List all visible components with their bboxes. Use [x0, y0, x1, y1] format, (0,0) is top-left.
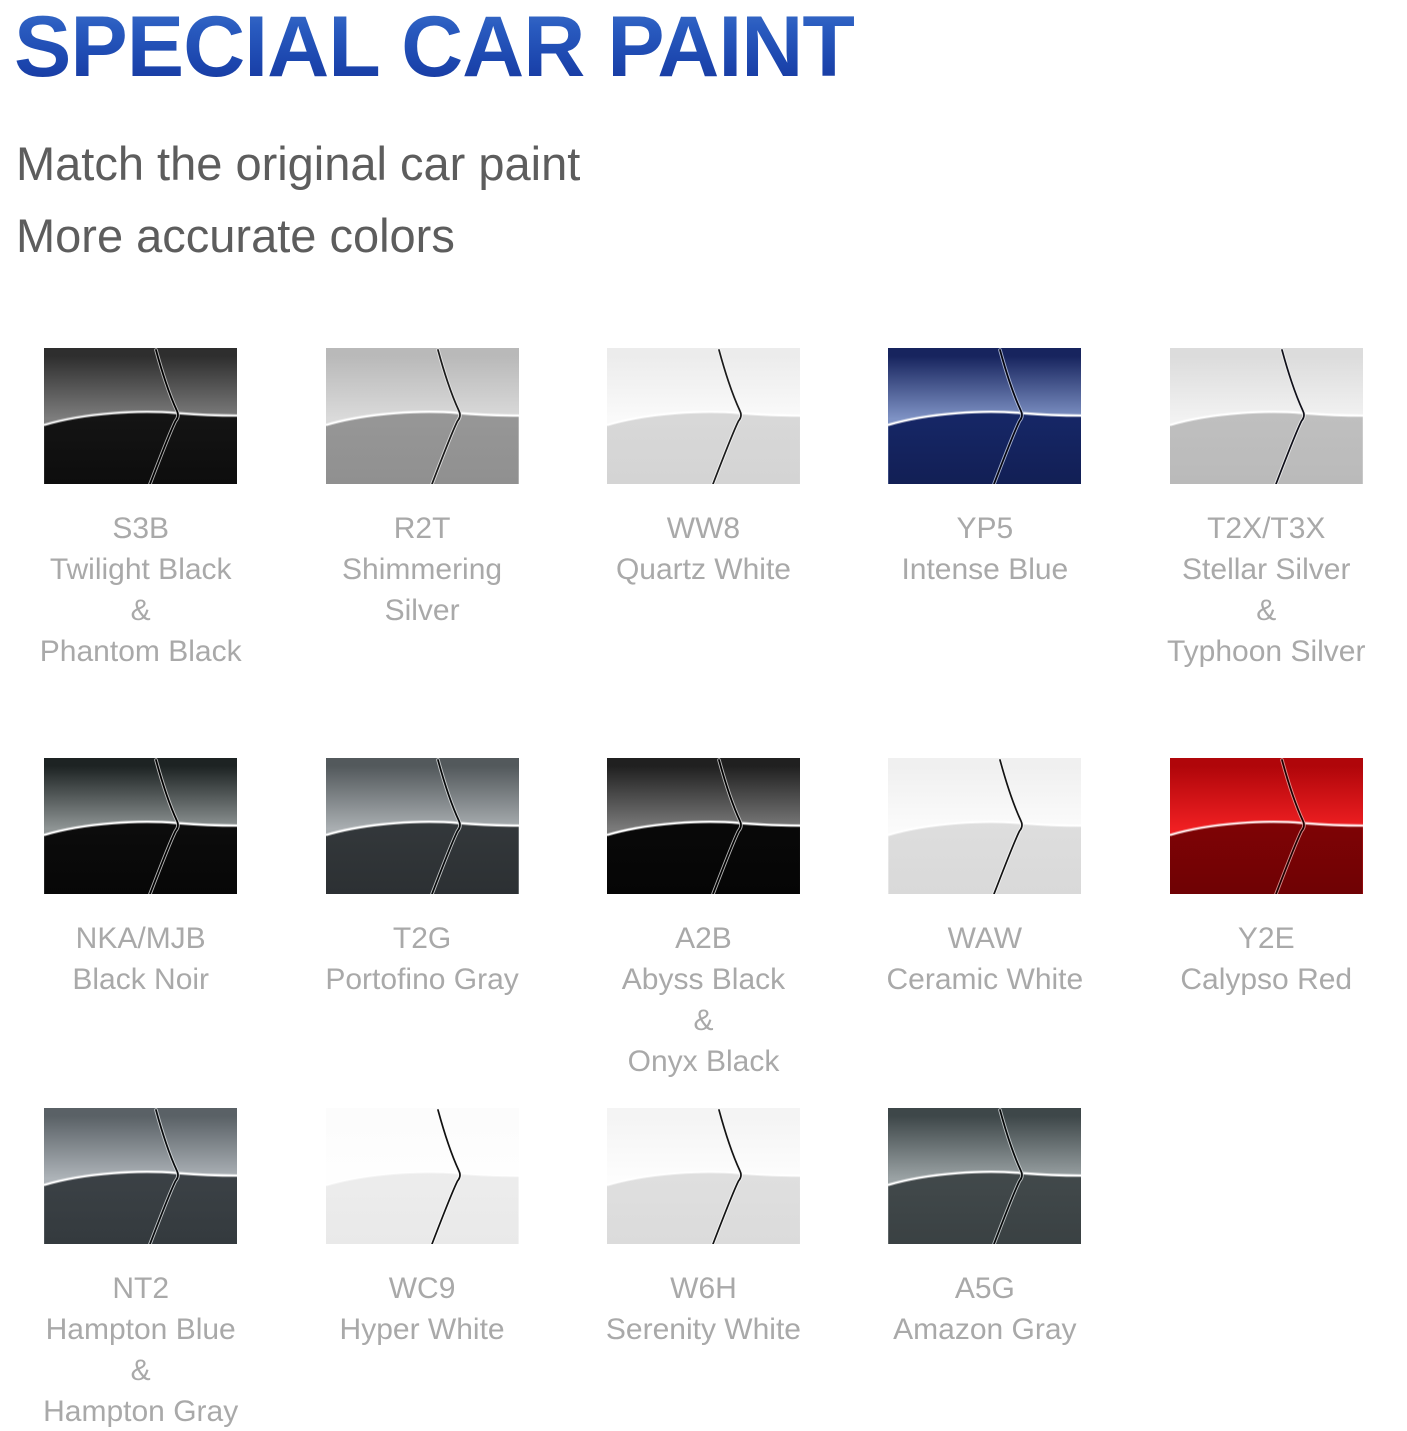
paint-code: WC9	[282, 1268, 563, 1309]
swatch-row: NKA/MJBBlack NoirT2GPortofino GrayA2BAby…	[0, 740, 1407, 1090]
page-title: SPECIAL CAR PAINT	[0, 0, 1407, 92]
paint-caption: R2TShimmering Silver	[282, 508, 563, 631]
paint-sample-image	[44, 348, 237, 484]
paint-sample-image	[888, 758, 1081, 894]
panel-lines	[888, 1108, 1081, 1244]
panel-lines	[326, 758, 519, 894]
paint-caption: T2X/T3XStellar Silver & Typhoon Silver	[1126, 508, 1407, 672]
door-gap-line	[713, 1110, 741, 1244]
paint-name: Abyss Black & Onyx Black	[563, 959, 844, 1082]
subtitle-block: Match the original car paint More accura…	[0, 128, 1407, 272]
paint-swatch-cell[interactable]: NT2Hampton Blue & Hampton Gray	[0, 1090, 281, 1431]
paint-swatch-cell[interactable]: A5GAmazon Gray	[844, 1090, 1125, 1350]
paint-caption: A5GAmazon Gray	[844, 1268, 1125, 1350]
swatch-row: S3BTwilight Black & Phantom BlackR2TShim…	[0, 330, 1407, 740]
paint-swatch-cell[interactable]: WC9Hyper White	[281, 1090, 562, 1350]
paint-swatch-cell[interactable]: T2GPortofino Gray	[281, 740, 562, 1000]
panel-lines	[44, 758, 237, 894]
door-gap-line	[994, 1110, 1022, 1244]
paint-swatch-cell[interactable]: W6HSerenity White	[563, 1090, 844, 1350]
paint-name: Calypso Red	[1126, 959, 1407, 1000]
paint-caption: WC9Hyper White	[282, 1268, 563, 1350]
paint-code: WAW	[844, 918, 1125, 959]
door-gap-highlight	[713, 1110, 741, 1244]
paint-caption: WW8Quartz White	[563, 508, 844, 590]
paint-sample-image	[1170, 758, 1363, 894]
paint-swatch-cell[interactable]: S3BTwilight Black & Phantom Black	[0, 330, 281, 672]
door-gap-line	[432, 760, 460, 894]
panel-lines	[44, 348, 237, 484]
door-gap-line	[150, 350, 178, 484]
door-gap-line	[713, 760, 741, 894]
door-gap-highlight	[713, 760, 741, 894]
door-gap-line	[713, 350, 741, 484]
door-gap-highlight	[432, 350, 460, 484]
paint-code: NT2	[0, 1268, 281, 1309]
paint-code: R2T	[282, 508, 563, 549]
paint-swatch-cell[interactable]: R2TShimmering Silver	[281, 330, 562, 631]
paint-swatch-cell[interactable]: A2BAbyss Black & Onyx Black	[563, 740, 844, 1082]
paint-sample-image	[888, 1108, 1081, 1244]
paint-sample-image	[607, 758, 800, 894]
panel-lines	[326, 1108, 519, 1244]
paint-code: WW8	[563, 508, 844, 549]
panel-lines	[44, 1108, 237, 1244]
paint-swatch-cell[interactable]: Y2ECalypso Red	[1126, 740, 1407, 1000]
paint-caption: A2BAbyss Black & Onyx Black	[563, 918, 844, 1082]
panel-lines	[888, 348, 1081, 484]
paint-name: Black Noir	[0, 959, 281, 1000]
paint-name: Stellar Silver & Typhoon Silver	[1126, 549, 1407, 672]
door-gap-highlight	[994, 350, 1022, 484]
door-gap-line	[150, 760, 178, 894]
door-gap-highlight	[994, 1110, 1022, 1244]
paint-swatch-cell[interactable]: NKA/MJBBlack Noir	[0, 740, 281, 1000]
paint-caption: Y2ECalypso Red	[1126, 918, 1407, 1000]
door-gap-line	[432, 1110, 460, 1244]
panel-lines	[888, 758, 1081, 894]
paint-swatch-grid: S3BTwilight Black & Phantom BlackR2TShim…	[0, 330, 1407, 1431]
door-gap-line	[994, 350, 1022, 484]
paint-code: T2X/T3X	[1126, 508, 1407, 549]
paint-caption: NT2Hampton Blue & Hampton Gray	[0, 1268, 281, 1431]
paint-code: NKA/MJB	[0, 918, 281, 959]
paint-name: Amazon Gray	[844, 1309, 1125, 1350]
paint-name: Serenity White	[563, 1309, 844, 1350]
paint-caption: S3BTwilight Black & Phantom Black	[0, 508, 281, 672]
paint-caption: YP5Intense Blue	[844, 508, 1125, 590]
paint-sample-image	[888, 348, 1081, 484]
paint-name: Shimmering Silver	[282, 549, 563, 631]
paint-code: T2G	[282, 918, 563, 959]
door-gap-line	[432, 350, 460, 484]
page-header: SPECIAL CAR PAINT Match the original car…	[0, 0, 1407, 272]
paint-code: S3B	[0, 508, 281, 549]
paint-caption: W6HSerenity White	[563, 1268, 844, 1350]
paint-name: Intense Blue	[844, 549, 1125, 590]
paint-name: Quartz White	[563, 549, 844, 590]
door-gap-highlight	[432, 1110, 460, 1244]
door-gap-highlight	[150, 760, 178, 894]
door-gap-highlight	[713, 350, 741, 484]
door-gap-highlight	[994, 760, 1022, 894]
door-gap-highlight	[1276, 350, 1304, 484]
paint-sample-image	[326, 1108, 519, 1244]
door-gap-line	[150, 1110, 178, 1244]
paint-sample-image	[44, 758, 237, 894]
paint-sample-image	[44, 1108, 237, 1244]
paint-swatch-cell[interactable]: WW8Quartz White	[563, 330, 844, 590]
paint-code: A2B	[563, 918, 844, 959]
door-gap-highlight	[1276, 760, 1304, 894]
paint-caption: WAWCeramic White	[844, 918, 1125, 1000]
paint-name: Hampton Blue & Hampton Gray	[0, 1309, 281, 1431]
panel-lines	[607, 758, 800, 894]
paint-code: Y2E	[1126, 918, 1407, 959]
panel-lines	[1170, 758, 1363, 894]
door-gap-highlight	[150, 350, 178, 484]
paint-name: Twilight Black & Phantom Black	[0, 549, 281, 672]
door-gap-highlight	[432, 760, 460, 894]
paint-swatch-cell[interactable]: YP5Intense Blue	[844, 330, 1125, 590]
paint-code: YP5	[844, 508, 1125, 549]
paint-sample-image	[326, 758, 519, 894]
paint-code: A5G	[844, 1268, 1125, 1309]
paint-caption: T2GPortofino Gray	[282, 918, 563, 1000]
panel-lines	[607, 1108, 800, 1244]
paint-sample-image	[326, 348, 519, 484]
paint-caption: NKA/MJBBlack Noir	[0, 918, 281, 1000]
door-gap-line	[1276, 760, 1304, 894]
subtitle-line-1: Match the original car paint	[16, 128, 1407, 200]
door-gap-line	[994, 760, 1022, 894]
paint-name: Hyper White	[282, 1309, 563, 1350]
paint-code: W6H	[563, 1268, 844, 1309]
paint-name: Ceramic White	[844, 959, 1125, 1000]
subtitle-line-2: More accurate colors	[16, 200, 1407, 272]
paint-sample-image	[607, 348, 800, 484]
door-gap-highlight	[150, 1110, 178, 1244]
paint-swatch-cell[interactable]: WAWCeramic White	[844, 740, 1125, 1000]
paint-name: Portofino Gray	[282, 959, 563, 1000]
paint-sample-image	[607, 1108, 800, 1244]
paint-sample-image	[1170, 348, 1363, 484]
panel-lines	[1170, 348, 1363, 484]
special-car-paint-page: SPECIAL CAR PAINT Match the original car…	[0, 0, 1407, 1431]
door-gap-line	[1276, 350, 1304, 484]
swatch-row: NT2Hampton Blue & Hampton GrayWC9Hyper W…	[0, 1090, 1407, 1431]
paint-swatch-cell[interactable]: T2X/T3XStellar Silver & Typhoon Silver	[1126, 330, 1407, 672]
panel-lines	[326, 348, 519, 484]
panel-lines	[607, 348, 800, 484]
